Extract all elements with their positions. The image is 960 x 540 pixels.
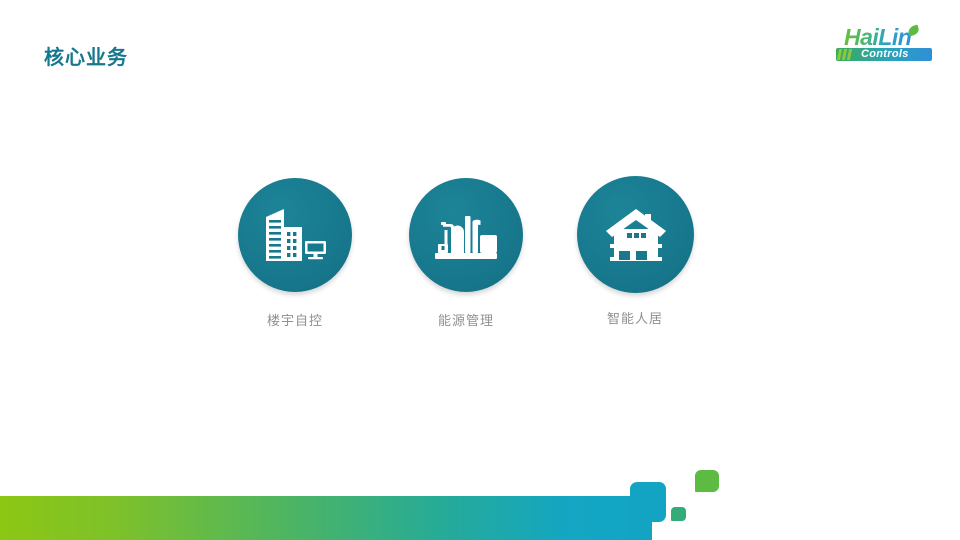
footer-green-square: [695, 470, 719, 492]
footer-green-square-small: [671, 507, 686, 521]
page-title: 核心业务: [44, 41, 128, 70]
logo-bars-icon: [838, 49, 858, 60]
footer-step-block: [630, 482, 666, 522]
core-business-item-label: 智能人居: [558, 308, 712, 327]
brand-logo: HaiLin Controls: [836, 27, 932, 63]
industrial-plant-icon[interactable]: [409, 178, 523, 292]
core-business-item-label: 楼宇自控: [218, 310, 372, 329]
logo-sub-wordmark: Controls: [861, 48, 909, 61]
logo-wordmark: HaiLin: [844, 24, 911, 50]
core-business-item-label: 能源管理: [389, 310, 543, 329]
footer-gradient-bar: [0, 496, 643, 540]
house-icon[interactable]: [577, 176, 694, 293]
slide-canvas: 核心业务 HaiLin Controls: [0, 0, 960, 540]
office-buildings-monitor-icon[interactable]: [238, 178, 352, 292]
